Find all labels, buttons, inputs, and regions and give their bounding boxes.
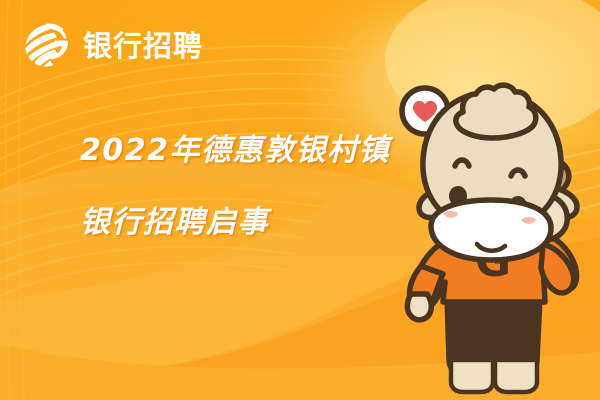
recruitment-banner: 银行招聘 2022年德惠敦银村镇 银行招聘启事 .ol { stroke:#4a…	[0, 0, 600, 400]
logo[interactable]: 银行招聘	[22, 20, 203, 72]
headline-line-2: 银行招聘启事	[80, 208, 390, 238]
headline: 2022年德惠敦银村镇 银行招聘启事	[80, 136, 390, 238]
bank-globe-g-icon	[22, 20, 74, 72]
mascot-ox: .ol { stroke:#4a3521; stroke-width:5.5; …	[385, 38, 600, 400]
logo-text: 银行招聘	[83, 32, 203, 61]
mascot-ox-illustration: .ol { stroke:#4a3521; stroke-width:5.5; …	[385, 38, 600, 400]
headline-line-1: 2022年德惠敦银村镇	[80, 136, 390, 166]
